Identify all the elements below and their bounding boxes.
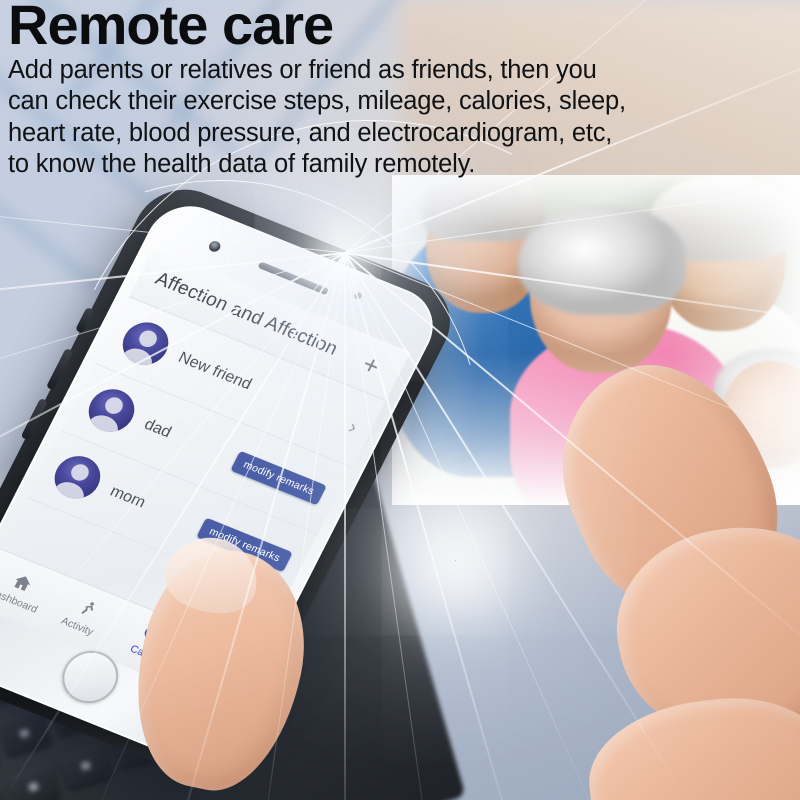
subtitle-line: heart rate, blood pressure, and electroc… bbox=[8, 118, 778, 149]
avatar bbox=[115, 316, 176, 372]
pointing-finger bbox=[560, 400, 800, 800]
page-title: Remote care bbox=[8, 0, 778, 53]
list-item-label: dad bbox=[141, 416, 240, 469]
list-item-label: mom bbox=[107, 483, 206, 536]
avatar bbox=[81, 383, 142, 439]
home-icon bbox=[8, 570, 36, 595]
earpiece-speaker bbox=[257, 261, 329, 295]
avatar bbox=[47, 449, 108, 505]
subtitle-line: Add parents or relatives or friend as fr… bbox=[8, 55, 778, 86]
marketing-copy: Remote care Add parents or relatives or … bbox=[8, 0, 778, 180]
modify-remarks-button[interactable]: modify remarks bbox=[231, 451, 327, 505]
subtitle-line: to know the health data of family remote… bbox=[8, 149, 778, 180]
proximity-sensor-icon bbox=[353, 291, 363, 300]
add-friend-icon[interactable]: + bbox=[353, 349, 389, 382]
promo-banner: Affection and Affection + New friend › d… bbox=[0, 0, 800, 800]
subtitle-line: can check their exercise steps, mileage,… bbox=[8, 86, 778, 117]
running-icon bbox=[72, 596, 100, 621]
subtitle: Add parents or relatives or friend as fr… bbox=[8, 55, 778, 180]
front-camera-icon bbox=[207, 240, 222, 254]
holding-hand bbox=[130, 540, 350, 800]
